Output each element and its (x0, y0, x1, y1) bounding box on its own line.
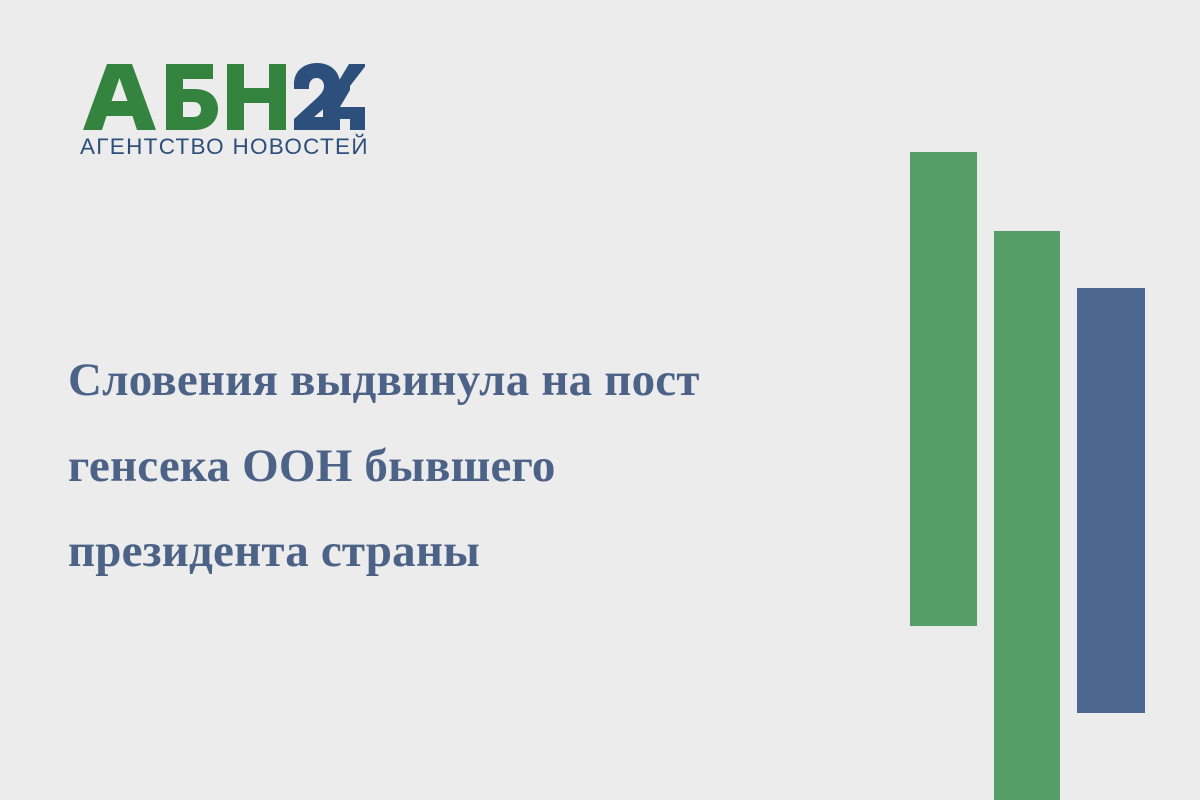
logo-tagline: АГЕНТСТВО НОВОСТЕЙ (80, 136, 370, 159)
headline-line-3: президента страны (68, 509, 868, 595)
decor-bar-mid-green (994, 231, 1060, 800)
decor-bar-short-blue (1077, 288, 1145, 713)
headline-line-2: генсека ООН бывшего (68, 424, 868, 510)
brand-logo[interactable]: АГЕНТСТВО НОВОСТЕЙ (80, 62, 370, 159)
decor-bar-tall-green (910, 152, 977, 626)
headline-line-1: Словения выдвинула на пост (68, 338, 868, 424)
page-title: Словения выдвинула на пост генсека ООН б… (68, 338, 868, 595)
news-card: АГЕНТСТВО НОВОСТЕЙ Словения выдвинула на… (0, 0, 1200, 800)
logo-wordmark-icon (80, 62, 365, 132)
